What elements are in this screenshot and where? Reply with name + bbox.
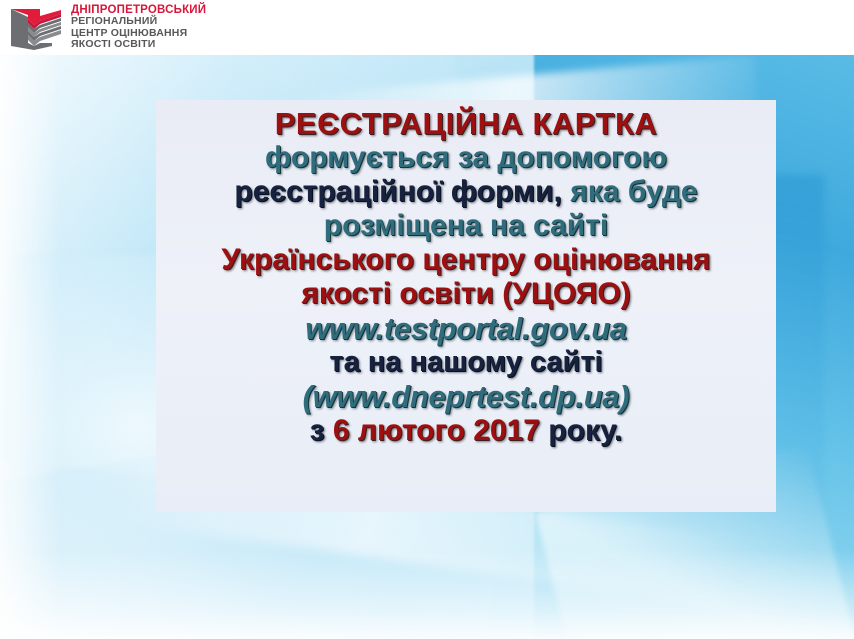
announcement-line-date: з 6 лютого 2017 року. [162,416,770,446]
organisation-logo: ДНІПРОПЕТРОВСЬКИЙ РЕГІОНАЛЬНИЙ ЦЕНТР ОЦІ… [8,3,206,51]
text-segment: та на нашому сайті [329,346,602,378]
open-book-logo-icon [8,3,64,51]
announcement-line-7: та на нашому сайті [162,348,770,377]
announcement-line-title: РЕЄСТРАЦІЙНА КАРТКА [162,108,770,139]
announcement-panel: РЕЄСТРАЦІЙНА КАРТКА формується за допомо… [156,100,776,512]
text-segment: розміщена на сайті [324,209,608,242]
text-segment: www.testportal.gov.ua [305,311,627,346]
header-band: ДНІПРОПЕТРОВСЬКИЙ РЕГІОНАЛЬНИЙ ЦЕНТР ОЦІ… [0,0,854,55]
announcement-line-6: якості освіти (УЦОЯО) [162,279,770,309]
background-bottom-fade [0,549,854,639]
logo-line-2: РЕГІОНАЛЬНИЙ [71,16,206,27]
text-segment: РЕЄСТРАЦІЙНА КАРТКА [275,106,658,141]
slide-canvas: ДНІПРОПЕТРОВСЬКИЙ РЕГІОНАЛЬНИЙ ЦЕНТР ОЦІ… [0,0,854,639]
announcement-line-4: розміщена на сайті [162,211,770,241]
announcement-line-3: реєстраційної форми, яка буде [162,177,770,207]
text-segment: якості освіти (УЦОЯО) [301,277,630,310]
announcement-url-dneprtest[interactable]: (www.dneprtest.dp.ua) [162,381,770,412]
text-segment: 6 лютого 2017 [333,414,540,447]
logo-wordmark: ДНІПРОПЕТРОВСЬКИЙ РЕГІОНАЛЬНИЙ ЦЕНТР ОЦІ… [71,4,206,50]
text-segment: формується за допомогою [265,141,667,174]
text-segment: року. [540,414,622,447]
announcement-line-2: формується за допомогою [162,143,770,173]
text-segment: реєстраційної форми, [234,175,561,208]
announcement-line-5: Українського центру оцінювання [162,245,770,275]
announcement-url-testportal[interactable]: www.testportal.gov.ua [162,313,770,344]
text-segment: з [310,414,333,447]
text-segment: Українського центру оцінювання [221,243,710,276]
announcement-text-block: РЕЄСТРАЦІЙНА КАРТКА формується за допомо… [156,100,776,450]
text-segment: (www.dneprtest.dp.ua) [303,379,630,414]
logo-line-4: ЯКОСТІ ОСВІТИ [71,39,206,50]
text-segment: яка буде [562,175,698,208]
